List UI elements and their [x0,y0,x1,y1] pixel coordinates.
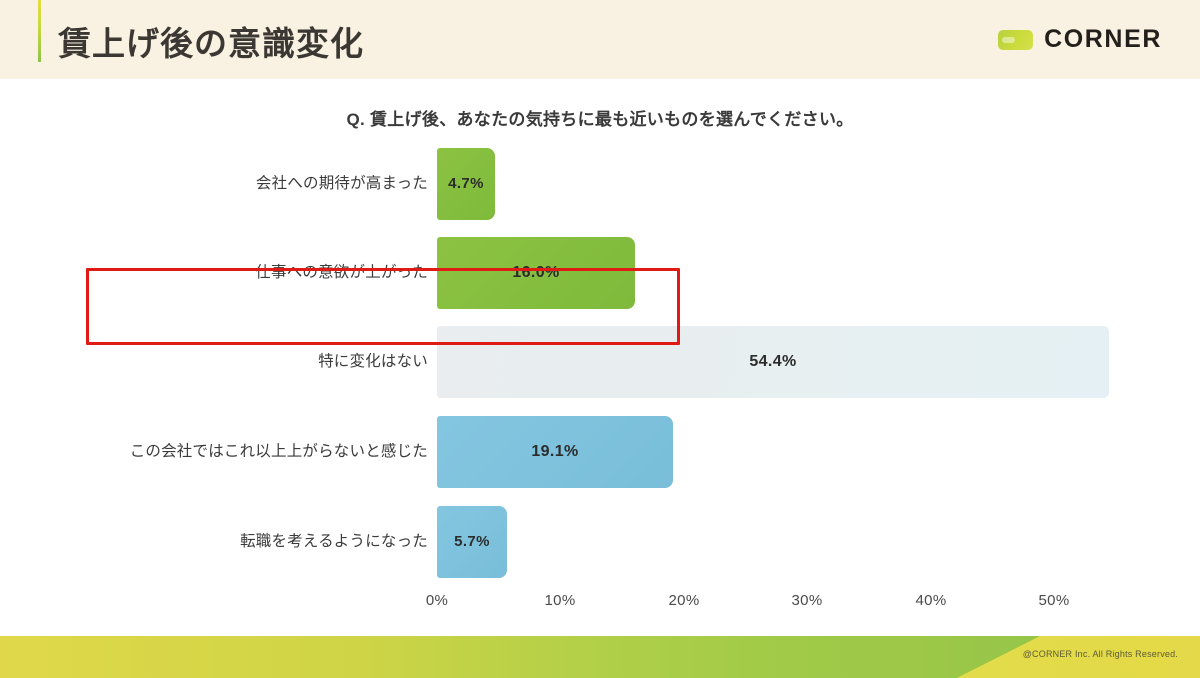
brand-name: CORNER [1044,25,1162,54]
slide-header: 賃上げ後の意識変化 CORNER [0,0,1200,79]
copyright-text: @CORNER Inc. All Rights Reserved. [1023,649,1178,659]
bar-value: 19.1% [437,416,673,488]
bar-5: 5.7% [437,506,507,578]
bar-value: 54.4% [437,326,1109,398]
bar-4: 19.1% [437,416,673,488]
axis-tick: 10% [545,592,576,609]
bar-value: 16.0% [437,237,635,309]
bar-label: 特に変化はない [318,326,437,398]
chart-row: この会社ではこれ以上上がらないと感じた 19.1% [0,416,1200,488]
axis-tick: 40% [916,592,947,609]
bar-label: 転職を考えるようになった [240,506,437,578]
x-axis: 0% 10% 20% 30% 40% 50% [0,592,1200,614]
slide-footer: @CORNER Inc. All Rights Reserved. [0,636,1200,678]
bar-value: 5.7% [437,506,507,578]
slide: 賃上げ後の意識変化 CORNER Q. 賃上げ後、あなたの気持ちに最も近いものを… [0,0,1200,678]
bar-2: 16.0% [437,237,635,309]
page-title: 賃上げ後の意識変化 [58,17,364,65]
bar-chart: 会社への期待が高まった 4.7% 仕事への意欲が上がった 16.0% 特に変化は… [0,148,1200,618]
bar-value: 4.7% [437,148,495,220]
chart-row: 特に変化はない 54.4% [0,326,1200,398]
chart-row: 会社への期待が高まった 4.7% [0,148,1200,220]
brand-logo: CORNER [998,25,1162,54]
footer-wedge-decoration [0,636,1040,678]
question-text: Q. 賃上げ後、あなたの気持ちに最も近いものを選んでください。 [0,105,1200,130]
bar-1: 4.7% [437,148,495,220]
chart-row: 仕事への意欲が上がった 16.0% [0,237,1200,309]
title-accent-bar [38,0,41,62]
axis-tick: 20% [669,592,700,609]
bar-label: 会社への期待が高まった [256,148,437,220]
axis-tick: 50% [1039,592,1070,609]
corner-logo-icon [998,30,1033,50]
axis-tick: 30% [792,592,823,609]
bar-3: 54.4% [437,326,1109,398]
bar-label: 仕事への意欲が上がった [255,237,437,309]
chart-row: 転職を考えるようになった 5.7% [0,506,1200,578]
axis-tick: 0% [426,592,448,609]
bar-label: この会社ではこれ以上上がらないと感じた [130,416,437,488]
